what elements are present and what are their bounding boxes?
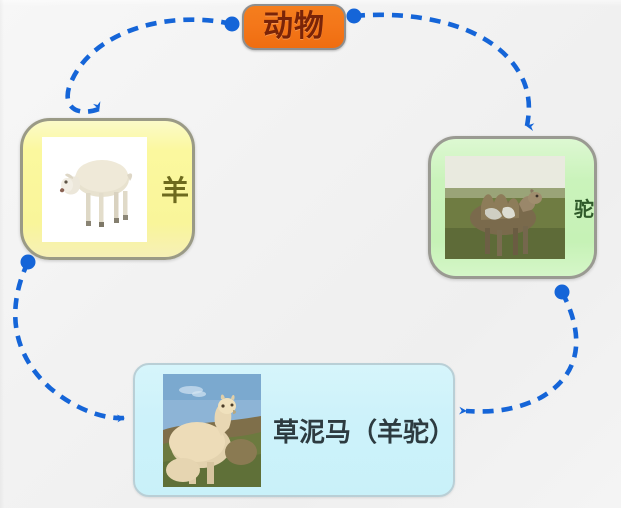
node-sheep[interactable]: 羊 bbox=[20, 118, 195, 260]
node-animal-label: 动物 bbox=[263, 12, 325, 42]
node-sheep-label: 羊 bbox=[161, 169, 189, 209]
camel-photo bbox=[445, 156, 565, 259]
node-alpaca[interactable]: 草泥马（羊驼） bbox=[133, 363, 455, 497]
edge-sheep-to-alpaca bbox=[15, 255, 124, 419]
edge-camel-to-alpaca bbox=[466, 285, 576, 412]
alpaca-photo bbox=[163, 374, 261, 487]
node-camel-label: 驼 bbox=[574, 193, 594, 222]
edge-root-to-camel bbox=[347, 9, 529, 127]
edge-origin-dot bbox=[347, 9, 362, 24]
node-camel[interactable]: 驼 bbox=[428, 136, 597, 279]
node-animal[interactable]: 动物 bbox=[242, 4, 346, 50]
diagram-canvas: 动物 羊 bbox=[0, 0, 621, 508]
sheep-photo bbox=[42, 137, 147, 242]
node-alpaca-label: 草泥马（羊驼） bbox=[273, 412, 455, 449]
edge-origin-dot bbox=[21, 255, 36, 270]
edge-origin-dot bbox=[225, 17, 240, 32]
edge-origin-dot bbox=[555, 285, 570, 300]
edge-root-to-sheep bbox=[68, 17, 240, 112]
